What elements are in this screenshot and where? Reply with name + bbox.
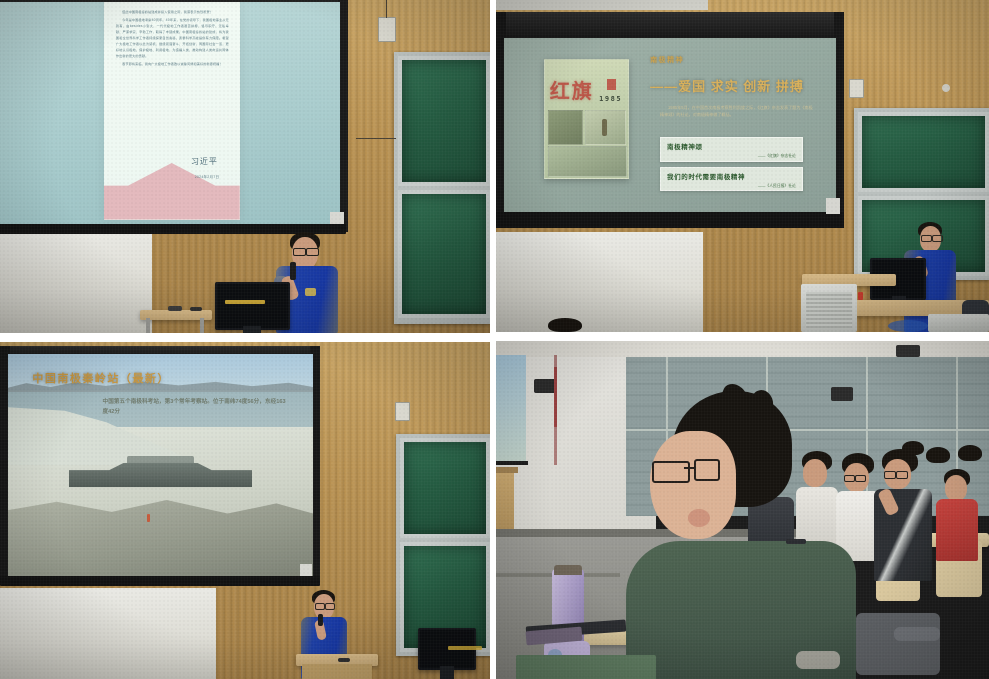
magazine-cover: 红旗 1985 bbox=[544, 59, 629, 179]
person-marker bbox=[147, 514, 150, 522]
chalkboard-upper bbox=[398, 56, 490, 186]
screen-bottom-bar bbox=[496, 212, 844, 228]
student-head-far bbox=[926, 447, 950, 463]
microphone-icon bbox=[318, 614, 323, 626]
letter-paragraph-3: 春节即将来临，我向广大极地工作者致以诚挚问候和美好的新春祝福！ bbox=[116, 61, 229, 67]
screen-label bbox=[826, 198, 840, 214]
student-row2-d bbox=[874, 449, 932, 581]
letter-body: 值此中国南极秦岭站建成并投入使用之际，我谨表示热烈祝贺！ 今年是中国极地考察40… bbox=[116, 9, 229, 69]
glasses-right-icon bbox=[896, 471, 908, 479]
photo-collage: 值此中国南极秦岭站建成并投入使用之际，我谨表示热烈祝贺！ 今年是中国极地考察40… bbox=[0, 0, 989, 679]
monitor-screen bbox=[217, 284, 288, 328]
head bbox=[945, 475, 967, 501]
desk-pointer bbox=[190, 307, 202, 311]
screen-bottom-bar bbox=[0, 576, 320, 586]
backpack bbox=[856, 613, 940, 675]
quote-box-1-source: ——《红旗》杂志社论 bbox=[667, 154, 796, 159]
slide-congratulatory-letter: 值此中国南极秦岭站建成并投入使用之际，我谨表示热烈祝贺！ 今年是中国极地考察40… bbox=[0, 2, 340, 224]
thermos-cap bbox=[554, 565, 582, 575]
magazine-name: 红旗 bbox=[550, 75, 594, 104]
backpack-strap bbox=[894, 627, 940, 641]
wall-sensor-icon bbox=[378, 17, 396, 42]
wall-sensor-icon bbox=[395, 402, 410, 421]
cover-photo-room bbox=[585, 110, 627, 145]
indicator-red bbox=[858, 292, 863, 300]
glasses-left-icon bbox=[884, 471, 896, 479]
screen-case bbox=[496, 12, 844, 40]
glasses-left-icon bbox=[315, 603, 325, 610]
wall-sensor-icon bbox=[849, 79, 864, 98]
wall-top-trim bbox=[496, 0, 708, 10]
wall-pipe-lower bbox=[554, 355, 557, 465]
cover-photo-statues bbox=[548, 110, 583, 145]
monitor-top-left bbox=[215, 282, 290, 330]
glasses-right-icon bbox=[306, 248, 319, 256]
screen-bottom-bar bbox=[496, 461, 528, 465]
slide-body-text: 中国第五个南极科考站，第3个常年考察站。位于南纬74度56分，东经163度42分 bbox=[103, 398, 286, 417]
slide-antarctic-spirit: 红旗 1985 南极精神 ——爱国 求实 创新 拼搏 1985年5月，在中国首次… bbox=[504, 38, 836, 212]
slide-subtitle: ——爱国 求实 创新 拼搏 bbox=[650, 76, 804, 95]
screen-label bbox=[330, 212, 344, 224]
magazine-issue-badge bbox=[607, 79, 616, 90]
glasses-right-icon bbox=[325, 603, 335, 610]
glasses-left-icon bbox=[293, 248, 306, 256]
phone-on-desk bbox=[786, 539, 806, 544]
slide-qinling-station: 中国南极秦岭站（最新） 中国第五个南极科考站，第3个常年考察站。位于南纬74度5… bbox=[8, 354, 313, 576]
quote-box-1: 南极精神颂 ——《红旗》杂志社论 bbox=[660, 137, 803, 161]
panel-bottom-right bbox=[496, 341, 989, 679]
side-wall bbox=[0, 226, 152, 333]
cable-yellow bbox=[225, 300, 265, 304]
podium-top bbox=[496, 467, 518, 473]
side-wall bbox=[496, 232, 703, 332]
desk-remote bbox=[168, 306, 182, 311]
slide-title: 中国南极秦岭站（最新） bbox=[32, 370, 170, 386]
quote-box-2: 我们的时代需要南极精神 ——《人民日报》社论 bbox=[660, 167, 803, 191]
glasses-left-icon bbox=[652, 461, 690, 483]
wall-speaker-icon bbox=[534, 379, 556, 393]
panel-bottom-left: 中国南极秦岭站（最新） 中国第五个南极科考站，第3个常年考察站。位于南纬74度5… bbox=[0, 342, 490, 679]
green-folder bbox=[516, 655, 656, 679]
red-jacket bbox=[936, 499, 978, 561]
screen-label bbox=[300, 564, 312, 576]
panel-top-right: 红旗 1985 南极精神 ——爱国 求实 创新 拼搏 1985年5月，在中国首次… bbox=[496, 0, 989, 332]
panel-top-left: 值此中国南极秦岭站建成并投入使用之际，我谨表示热烈祝贺！ 今年是中国极地考察40… bbox=[0, 0, 490, 333]
jacket-logo bbox=[305, 288, 316, 296]
student-head-far bbox=[958, 445, 982, 461]
magazine-year: 1985 bbox=[599, 95, 622, 103]
projector-screen-top-left: 值此中国南极秦岭站建成并投入使用之际，我谨表示热烈祝贺！ 今年是中国极地考察40… bbox=[0, 2, 340, 224]
glasses-right-icon bbox=[694, 459, 720, 481]
letter-pink-footer bbox=[104, 163, 240, 220]
cover-photo-sculpture bbox=[548, 146, 626, 176]
cabinet-right bbox=[928, 314, 989, 332]
letter-date: 2024年2月7日 bbox=[195, 175, 220, 180]
chalkboard-upper bbox=[400, 438, 490, 538]
letter-signature: 习近平 bbox=[191, 156, 218, 167]
cable bbox=[386, 0, 387, 18]
seal-emblem bbox=[888, 320, 928, 332]
student-head-far bbox=[902, 441, 924, 455]
microphone-icon bbox=[290, 262, 296, 280]
letter-paragraph-1: 值此中国南极秦岭站建成并投入使用之际，我谨表示热烈祝贺！ bbox=[116, 9, 229, 15]
cabinet-vent bbox=[806, 292, 852, 328]
projector-screen-corner bbox=[496, 355, 526, 465]
chalkboard-upper bbox=[858, 112, 989, 192]
slide-title: 南极精神 bbox=[650, 55, 684, 65]
side-wall bbox=[0, 588, 216, 679]
foreground-student bbox=[626, 391, 856, 679]
slide-body-text: 1985年5月，在中国首次南极考察胜利凯旋之际，《红旗》杂志发表了题为《南极精神… bbox=[660, 104, 813, 118]
glasses-left-icon bbox=[921, 235, 932, 242]
ceiling-camera-icon bbox=[896, 345, 920, 357]
wall-seam bbox=[356, 138, 396, 139]
desk-leg-left bbox=[146, 318, 150, 333]
letter-paragraph-2: 今年是中国极地考察40周年。40年来，在党的领导下，我国极地事业从无到有、由be… bbox=[116, 17, 229, 59]
student-row3-red bbox=[936, 469, 978, 561]
glasses-right-icon bbox=[932, 235, 943, 242]
quote-box-2-source: ——《人民日报》社论 bbox=[667, 184, 796, 189]
projector-screen-top-right: 红旗 1985 南极精神 ——爱国 求实 创新 拼搏 1985年5月，在中国首次… bbox=[504, 38, 836, 212]
monitor-stand bbox=[243, 326, 261, 333]
projector-screen-bottom-left: 中国南极秦岭站（最新） 中国第五个南极科考站，第3个常年考察站。位于南纬74度5… bbox=[8, 354, 313, 576]
lectern-body bbox=[302, 664, 372, 679]
desk-leg-right bbox=[200, 318, 204, 333]
monitor-stand bbox=[440, 666, 454, 679]
wall-knob-icon bbox=[942, 84, 950, 92]
letter-document: 值此中国南极秦岭站建成并投入使用之际，我谨表示热烈祝贺！ 今年是中国极地考察40… bbox=[104, 2, 240, 220]
audience-head bbox=[548, 318, 582, 332]
shoe bbox=[796, 651, 840, 669]
quote-box-2-title: 我们的时代需要南极精神 bbox=[667, 171, 796, 181]
cover-figure bbox=[602, 119, 608, 136]
quote-box-1-title: 南极精神颂 bbox=[667, 141, 796, 151]
chalkboard-lower bbox=[398, 190, 490, 318]
ear bbox=[688, 509, 710, 527]
desk-remote bbox=[338, 658, 350, 662]
cable-yellow bbox=[448, 646, 482, 650]
glasses-right-icon bbox=[855, 475, 866, 482]
